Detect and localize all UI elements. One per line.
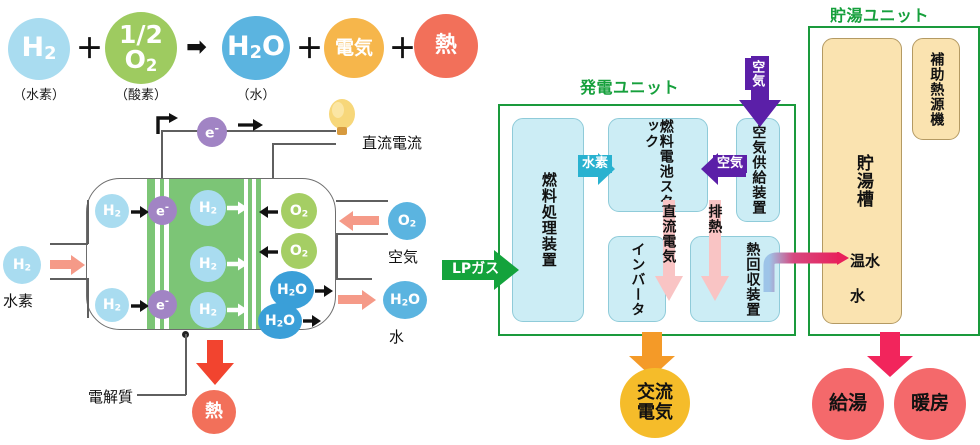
equation-heat-label: 熱: [435, 35, 457, 57]
module-fuel-cell-stack-label: 燃料電池スタック: [643, 119, 672, 211]
circuit-flow-arrow: [238, 117, 264, 136]
molecule-label: H2: [199, 257, 217, 272]
air-pipe-top: [336, 200, 388, 202]
air-side-label: 空気: [713, 155, 747, 173]
output-ac-power-line2: 電気: [637, 403, 673, 423]
equation-token-oxygen: 1/2 O2: [105, 12, 177, 84]
electron-label: e-: [156, 297, 169, 312]
molecule-h2-anode-1: H2: [95, 194, 129, 228]
circuit-hook-arrow: [155, 112, 181, 140]
arrow-h2o-out-2: [303, 313, 322, 332]
exhaust-heat-label: 排熱: [702, 202, 725, 236]
module-hot-water-tank-label: 貯湯槽: [853, 154, 871, 208]
output-hot-water-supply-label: 給湯: [829, 393, 867, 414]
water-outlet-label: 水: [389, 326, 404, 347]
electrolyte-label: 電解質: [88, 386, 133, 407]
output-space-heating-label: 暖房: [911, 393, 949, 414]
air-inlet-label: 空気: [388, 246, 418, 267]
inlet-arrow-air-shaft: [353, 216, 379, 225]
power-unit-title: 発電ユニット: [580, 74, 679, 98]
dc-current-label: 直流電流: [362, 132, 422, 153]
hydrogen-inlet-label: 水素: [3, 290, 33, 311]
equation-token-electricity: 電気: [324, 18, 384, 78]
heat-output-arrow: [195, 340, 235, 390]
heat-output-system-arrow: [866, 332, 914, 382]
inlet-pipe-hydrogen-bot: [50, 278, 88, 280]
equation-caption-oxygen: （酸素）: [105, 84, 177, 103]
dc-electricity-label: 直流電気: [656, 202, 679, 266]
molecule-o2-cathode-1: O2: [281, 193, 317, 229]
equation-operator-plus-2: ＋: [296, 36, 323, 63]
molecule-label: H2: [103, 204, 121, 219]
circuit-wire-right-vertical: [272, 143, 274, 183]
molecule-h2o-product-2: H2O: [258, 303, 302, 339]
molecule-label: H2: [13, 258, 31, 273]
equation-operator-plus-3: ＋: [389, 36, 416, 63]
hydrogen-flow-label: 水素: [578, 155, 612, 173]
heat-output-label: 熱: [205, 403, 223, 421]
molecule-label: H2: [103, 298, 121, 313]
arrow-membrane-3: [227, 302, 249, 322]
outlet-token-water: H2O: [383, 281, 427, 319]
electron-token-anode-2: e-: [148, 290, 177, 319]
molecule-label: H2O: [265, 314, 295, 329]
module-backup-heater: 補助熱源機: [912, 38, 960, 140]
arrow-membrane-1: [227, 200, 249, 220]
module-fuel-processor: 燃料処理装置: [512, 118, 584, 322]
molecule-h2-membrane-1: H2: [190, 190, 226, 226]
molecule-h2-membrane-3: H2: [190, 292, 226, 328]
output-ac-power: 交流 電気: [620, 368, 690, 438]
equation-token-hydrogen: H2: [8, 18, 70, 80]
molecule-h2-membrane-2: H2: [190, 246, 226, 282]
equation-operator-arrow: ➡: [186, 34, 207, 59]
equation-oxygen-formula: O2: [125, 47, 158, 74]
equation-token-heat: 熱: [414, 14, 478, 78]
module-inverter-label: インバータ: [630, 242, 645, 317]
arrow-h2-to-electron-2: [131, 298, 150, 317]
molecule-label: H2: [199, 201, 217, 216]
equation-token-water: H2O: [222, 16, 290, 80]
equation-water-formula: H2O: [227, 33, 285, 62]
equation-caption-hydrogen: （水素）: [8, 84, 70, 103]
molecule-label: H2: [199, 303, 217, 318]
membrane-gap-right-b: [252, 179, 256, 329]
molecule-h2-anode-2: H2: [95, 288, 129, 322]
air-pipe-bottom: [336, 233, 388, 235]
electrolyte-callout-vertical: [185, 334, 187, 395]
light-bulb-icon: [327, 98, 357, 142]
module-fuel-processor-label: 燃料処理装置: [540, 172, 556, 268]
cold-water-pipe-label: 水: [850, 285, 865, 306]
molecule-label: O2: [290, 244, 308, 259]
molecule-label: O2: [290, 204, 308, 219]
inlet-token-air: O2: [388, 202, 426, 240]
arrow-h2o-out-1: [315, 283, 334, 302]
arrow-h2-to-electron-1: [131, 204, 150, 223]
outlet-arrow-water-shaft: [338, 295, 364, 304]
inlet-pipe-hydrogen-top: [50, 243, 88, 245]
equation-operator-plus-1: ＋: [76, 36, 103, 63]
output-ac-power-line1: 交流: [637, 383, 673, 403]
arrow-o2-in-1: [258, 204, 278, 223]
inlet-token-hydrogen: H2: [3, 246, 41, 284]
air-pipe-vert: [336, 233, 338, 279]
storage-unit-title: 貯湯ユニット: [830, 2, 929, 26]
inlet-arrow-hydrogen-head: [71, 255, 85, 275]
inlet-arrow-hydrogen-shaft: [50, 260, 73, 269]
module-air-supply-label: 空気供給装置: [751, 125, 766, 215]
equation-caption-water: （水）: [222, 84, 290, 103]
module-backup-heater-label: 補助熱源機: [929, 52, 944, 127]
outlet-arrow-water-head: [362, 290, 376, 310]
electrolyte-callout-horizontal: [137, 394, 186, 396]
electron-label: e-: [156, 203, 169, 218]
air-pipe-h2o-out: [336, 278, 372, 280]
output-space-heating: 暖房: [894, 368, 966, 440]
arrow-membrane-2: [227, 256, 249, 276]
molecule-label: H2O: [277, 283, 307, 298]
heat-output-token: 熱: [192, 390, 236, 434]
equation-electricity-label: 電気: [335, 39, 373, 58]
molecule-o2-cathode-2: O2: [281, 233, 317, 269]
inlet-arrow-air-head: [339, 211, 353, 231]
fuel-cell-infographic: H2 （水素） ＋ 1/2 O2 （酸素） ➡ H2O （水） ＋ 電気 ＋ 熱…: [0, 0, 980, 445]
arrow-o2-in-2: [258, 244, 278, 263]
electron-token-circuit: e-: [197, 117, 227, 147]
electron-token-anode-1: e-: [148, 196, 177, 225]
air-inlet-label: 空気: [745, 58, 767, 90]
molecule-label: O2: [398, 214, 416, 229]
output-hot-water-supply: 給湯: [812, 368, 884, 440]
inlet-pipe-hydrogen-v-bot: [87, 278, 89, 318]
circuit-wire-right-top: [272, 143, 336, 145]
molecule-label: H2O: [390, 293, 420, 308]
equation-oxygen-coefficient: 1/2: [119, 22, 163, 47]
inlet-pipe-hydrogen-v-top: [87, 200, 89, 244]
electron-label: e-: [205, 123, 219, 141]
hot-water-pipe-label: 温水: [850, 250, 880, 271]
module-fuel-cell-stack: 燃料電池スタック: [608, 118, 708, 212]
lp-gas-label: LPガス: [448, 260, 503, 279]
equation-hydrogen-formula: H2: [21, 34, 56, 63]
